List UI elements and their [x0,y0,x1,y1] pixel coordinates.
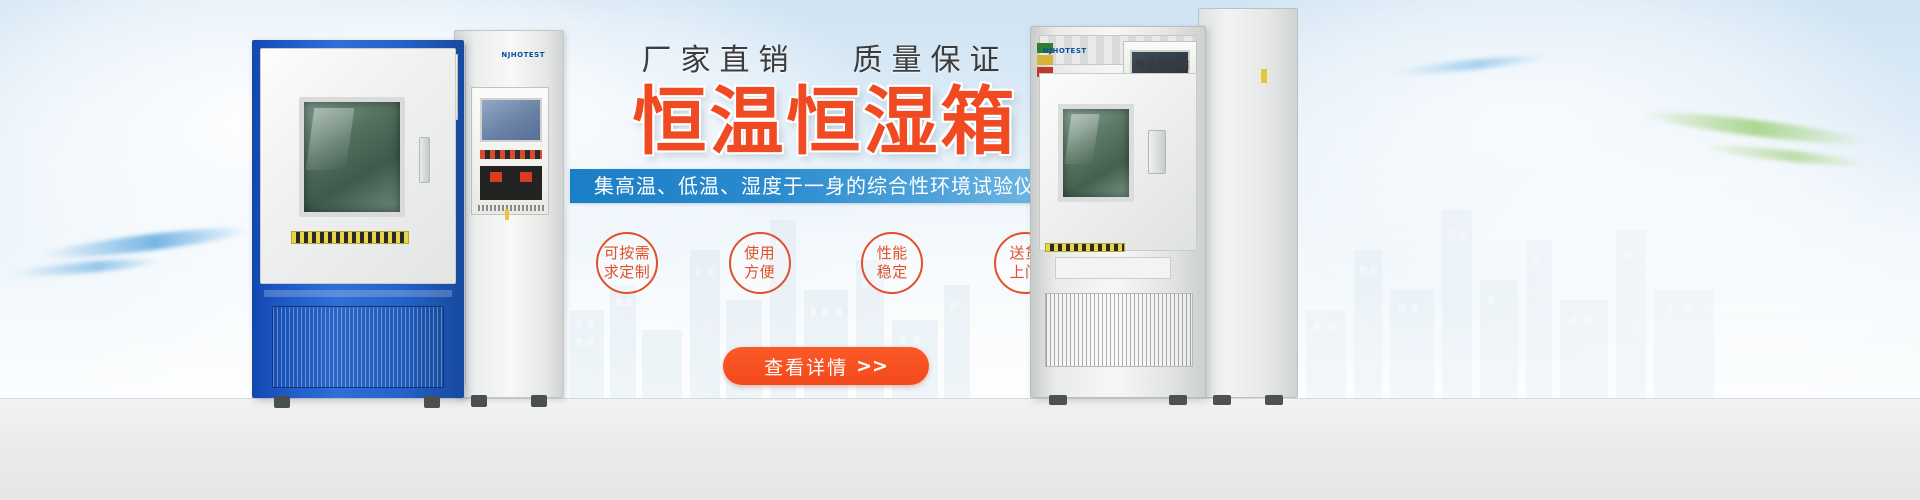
swoosh-decoration [1700,141,1870,170]
skyline-silhouette-right [1300,170,1720,400]
chamber-left-main-body [252,40,464,398]
swoosh-decoration [40,222,250,263]
chamber-right-foot [1169,395,1187,405]
chamber-left-foot [274,396,290,408]
chamber-left-viewing-window [299,97,405,217]
chamber-right-name-plate: 恒温恒湿箱 [1135,57,1190,72]
chamber-left-hazard-label [291,231,409,244]
controller-indicator [490,172,502,182]
ground-strip [0,398,1920,500]
controller-button-block [480,166,542,200]
chamber-left-side-cabinet: NJHOTEST 医用恒温恒温箱 [454,30,564,398]
controller-led-strip [480,150,542,159]
feature-badge-stable[interactable]: 性能 稳定 [861,232,923,294]
banner-eyebrow: 厂家直销 质量保证 [570,44,1080,79]
chamber-left-foot [424,396,440,408]
banner-copy-block: 厂家直销 质量保证 恒温恒湿箱 集高温、低温、湿度于一身的综合性环境试验仪器 [570,44,1080,203]
swoosh-decoration [10,255,160,279]
chamber-right-door-handle [1148,130,1166,174]
controller-screen [480,98,542,142]
banner-subtitle-bar: 集高温、低温、湿度于一身的综合性环境试验仪器 [570,169,1080,203]
chamber-left-brand: NJHOTEST [501,51,545,59]
chamber-right-brand: NJHOTEST [1043,47,1087,55]
chamber-right-vent-grille [1045,293,1193,367]
badge-line-2: 稳定 [877,263,908,283]
chamber-left-vent-grille [272,306,444,388]
swoosh-decoration [1390,52,1550,79]
badge-line-1: 可按需 [604,244,651,264]
controller-footer-text [478,205,544,211]
chamber-left-controller [471,87,549,215]
chamber-right-info-plate [1055,257,1171,279]
cloud-decoration [1430,110,1920,410]
chamber-right-foot [1213,395,1231,405]
chamber-right-main-body: NJHOTEST 恒温恒湿箱 [1030,26,1206,398]
promo-banner: NJHOTEST 医用恒温恒温箱 [0,0,1920,500]
chevron-right-icon: >> [856,355,888,377]
badge-line-2: 求定制 [604,263,651,283]
banner-headline: 恒温恒湿箱 [570,85,1080,160]
warning-sticker-icon [1037,55,1053,65]
product-image-right: NJHOTEST 恒温恒湿箱 [1030,8,1298,398]
eyebrow-part-2: 质量保证 [853,43,1009,78]
chamber-right-foot [1265,395,1283,405]
controller-indicator [520,172,532,182]
chamber-left-door [260,48,456,284]
chamber-left-foot [531,395,547,407]
product-image-left: NJHOTEST 医用恒温恒温箱 [252,30,564,398]
feature-badge-list: 可按需 求定制 使用 方便 性能 稳定 送货 上门 [596,232,1056,294]
chamber-left-door-handle [419,137,430,183]
feature-badge-easy-use[interactable]: 使用 方便 [729,232,791,294]
chamber-right-door [1039,73,1197,251]
badge-line-1: 使用 [744,244,775,264]
chamber-left-foot [471,395,487,407]
chamber-right-side-cabinet [1198,8,1298,398]
chamber-right-foot [1049,395,1067,405]
chamber-left-indicator-dot [505,209,509,220]
view-details-button[interactable]: 查看详情 >> [723,347,929,385]
chamber-left-trim [264,290,452,297]
cta-label: 查看详情 [764,353,848,380]
badge-line-2: 方便 [744,263,775,283]
chamber-right-hazard-label [1045,243,1125,252]
swoosh-decoration [1640,106,1870,150]
eyebrow-part-1: 厂家直销 [641,43,797,78]
badge-line-1: 性能 [877,244,908,264]
chamber-right-viewing-window [1058,104,1134,202]
feature-badge-custom[interactable]: 可按需 求定制 [596,232,658,294]
